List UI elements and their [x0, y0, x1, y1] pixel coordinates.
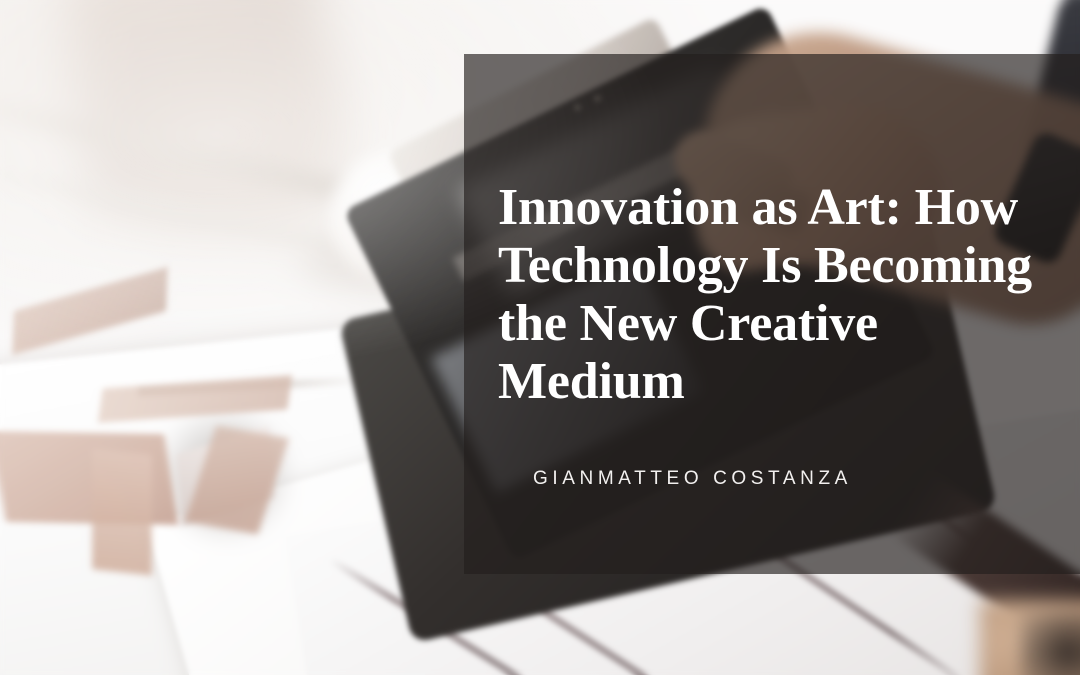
shadow-lower-right [1020, 612, 1080, 675]
text-overlay-panel: Innovation as Art: How Technology Is Bec… [464, 54, 1080, 574]
hero-banner: Innovation as Art: How Technology Is Bec… [0, 0, 1080, 675]
page-title: Innovation as Art: How Technology Is Bec… [498, 179, 1046, 411]
cardboard-shape-d [92, 449, 152, 576]
author-byline: Gianmatteo Costanza [498, 411, 1046, 490]
